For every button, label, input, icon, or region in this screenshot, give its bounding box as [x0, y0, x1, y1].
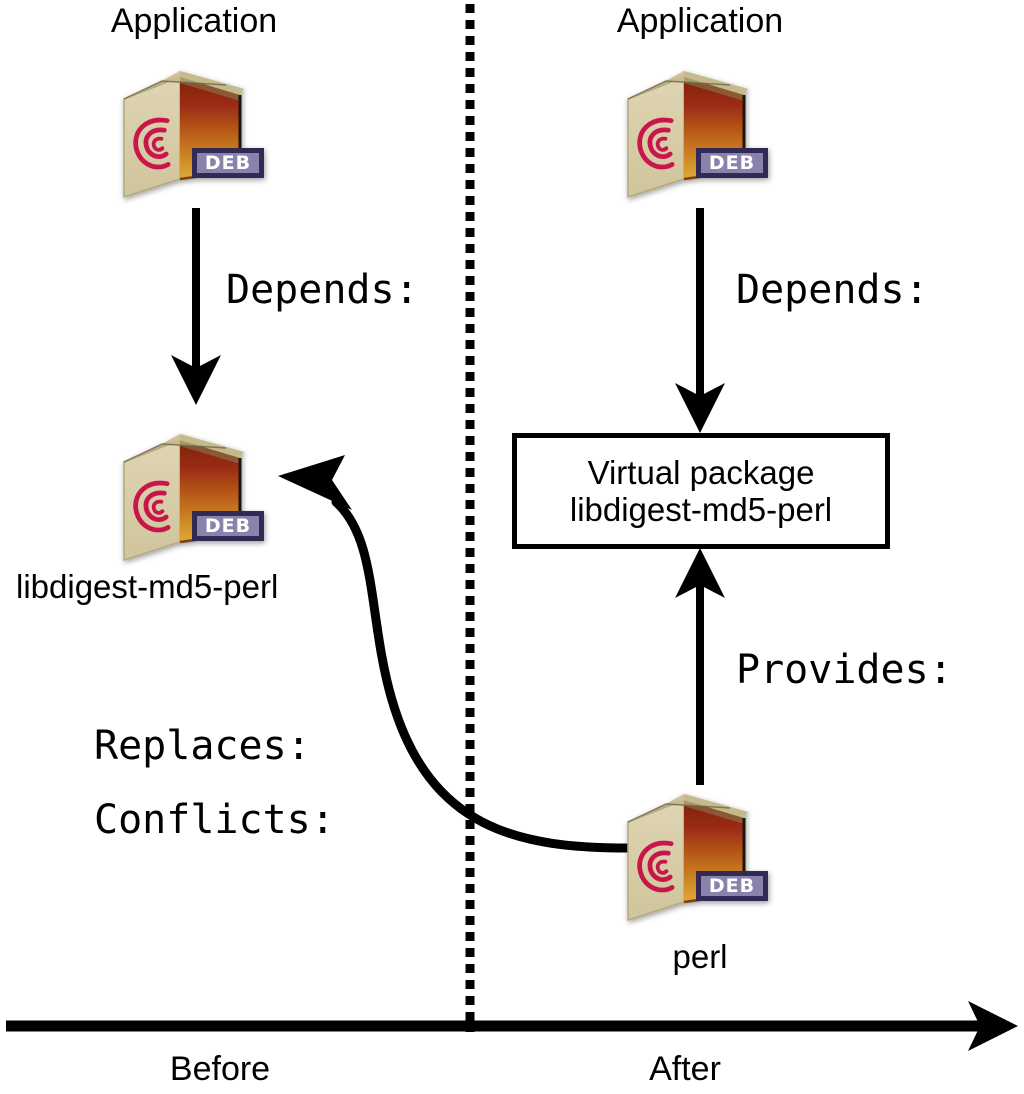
svg-text:DEB: DEB [205, 152, 251, 174]
svg-text:DEB: DEB [709, 875, 755, 897]
libdigest-md5-perl-label: libdigest-md5-perl [16, 570, 278, 603]
virtual-package-box: Virtual package libdigest-md5-perl [512, 433, 890, 549]
depends-arrow-after-icon [675, 208, 725, 433]
svg-text:DEB: DEB [205, 515, 251, 537]
application-label-after: Application [540, 4, 860, 38]
application-label-before: Application [34, 4, 354, 38]
axis-label-after: After [580, 1052, 790, 1086]
deb-badge-icon: DEB [696, 148, 768, 178]
perl-label: perl [600, 940, 800, 973]
package-icon-application-before: DEB [124, 71, 264, 197]
package-icon-application-after: DEB [628, 71, 768, 197]
package-icon-libdigest-md5-perl: DEB [124, 434, 264, 560]
replaces-label: Replaces: [94, 726, 311, 766]
depends-label-after: Depends: [736, 270, 929, 310]
package-icon-perl: DEB [628, 794, 768, 920]
provides-label: Provides: [736, 650, 953, 690]
deb-badge-icon: DEB [192, 511, 264, 541]
provides-arrow-icon [675, 548, 725, 785]
depends-label-before: Depends: [226, 270, 419, 310]
diagram-canvas: DEB DEB [0, 0, 1024, 1094]
timeline-axis-icon [6, 1001, 1018, 1051]
virtual-package-line-2: libdigest-md5-perl [570, 491, 832, 528]
svg-text:DEB: DEB [709, 152, 755, 174]
depends-arrow-before-icon [171, 208, 221, 405]
axis-label-before: Before [110, 1052, 330, 1086]
conflicts-label: Conflicts: [94, 800, 335, 840]
deb-badge-icon: DEB [192, 148, 264, 178]
virtual-package-line-1: Virtual package [588, 454, 815, 491]
deb-badge-icon: DEB [696, 871, 768, 901]
